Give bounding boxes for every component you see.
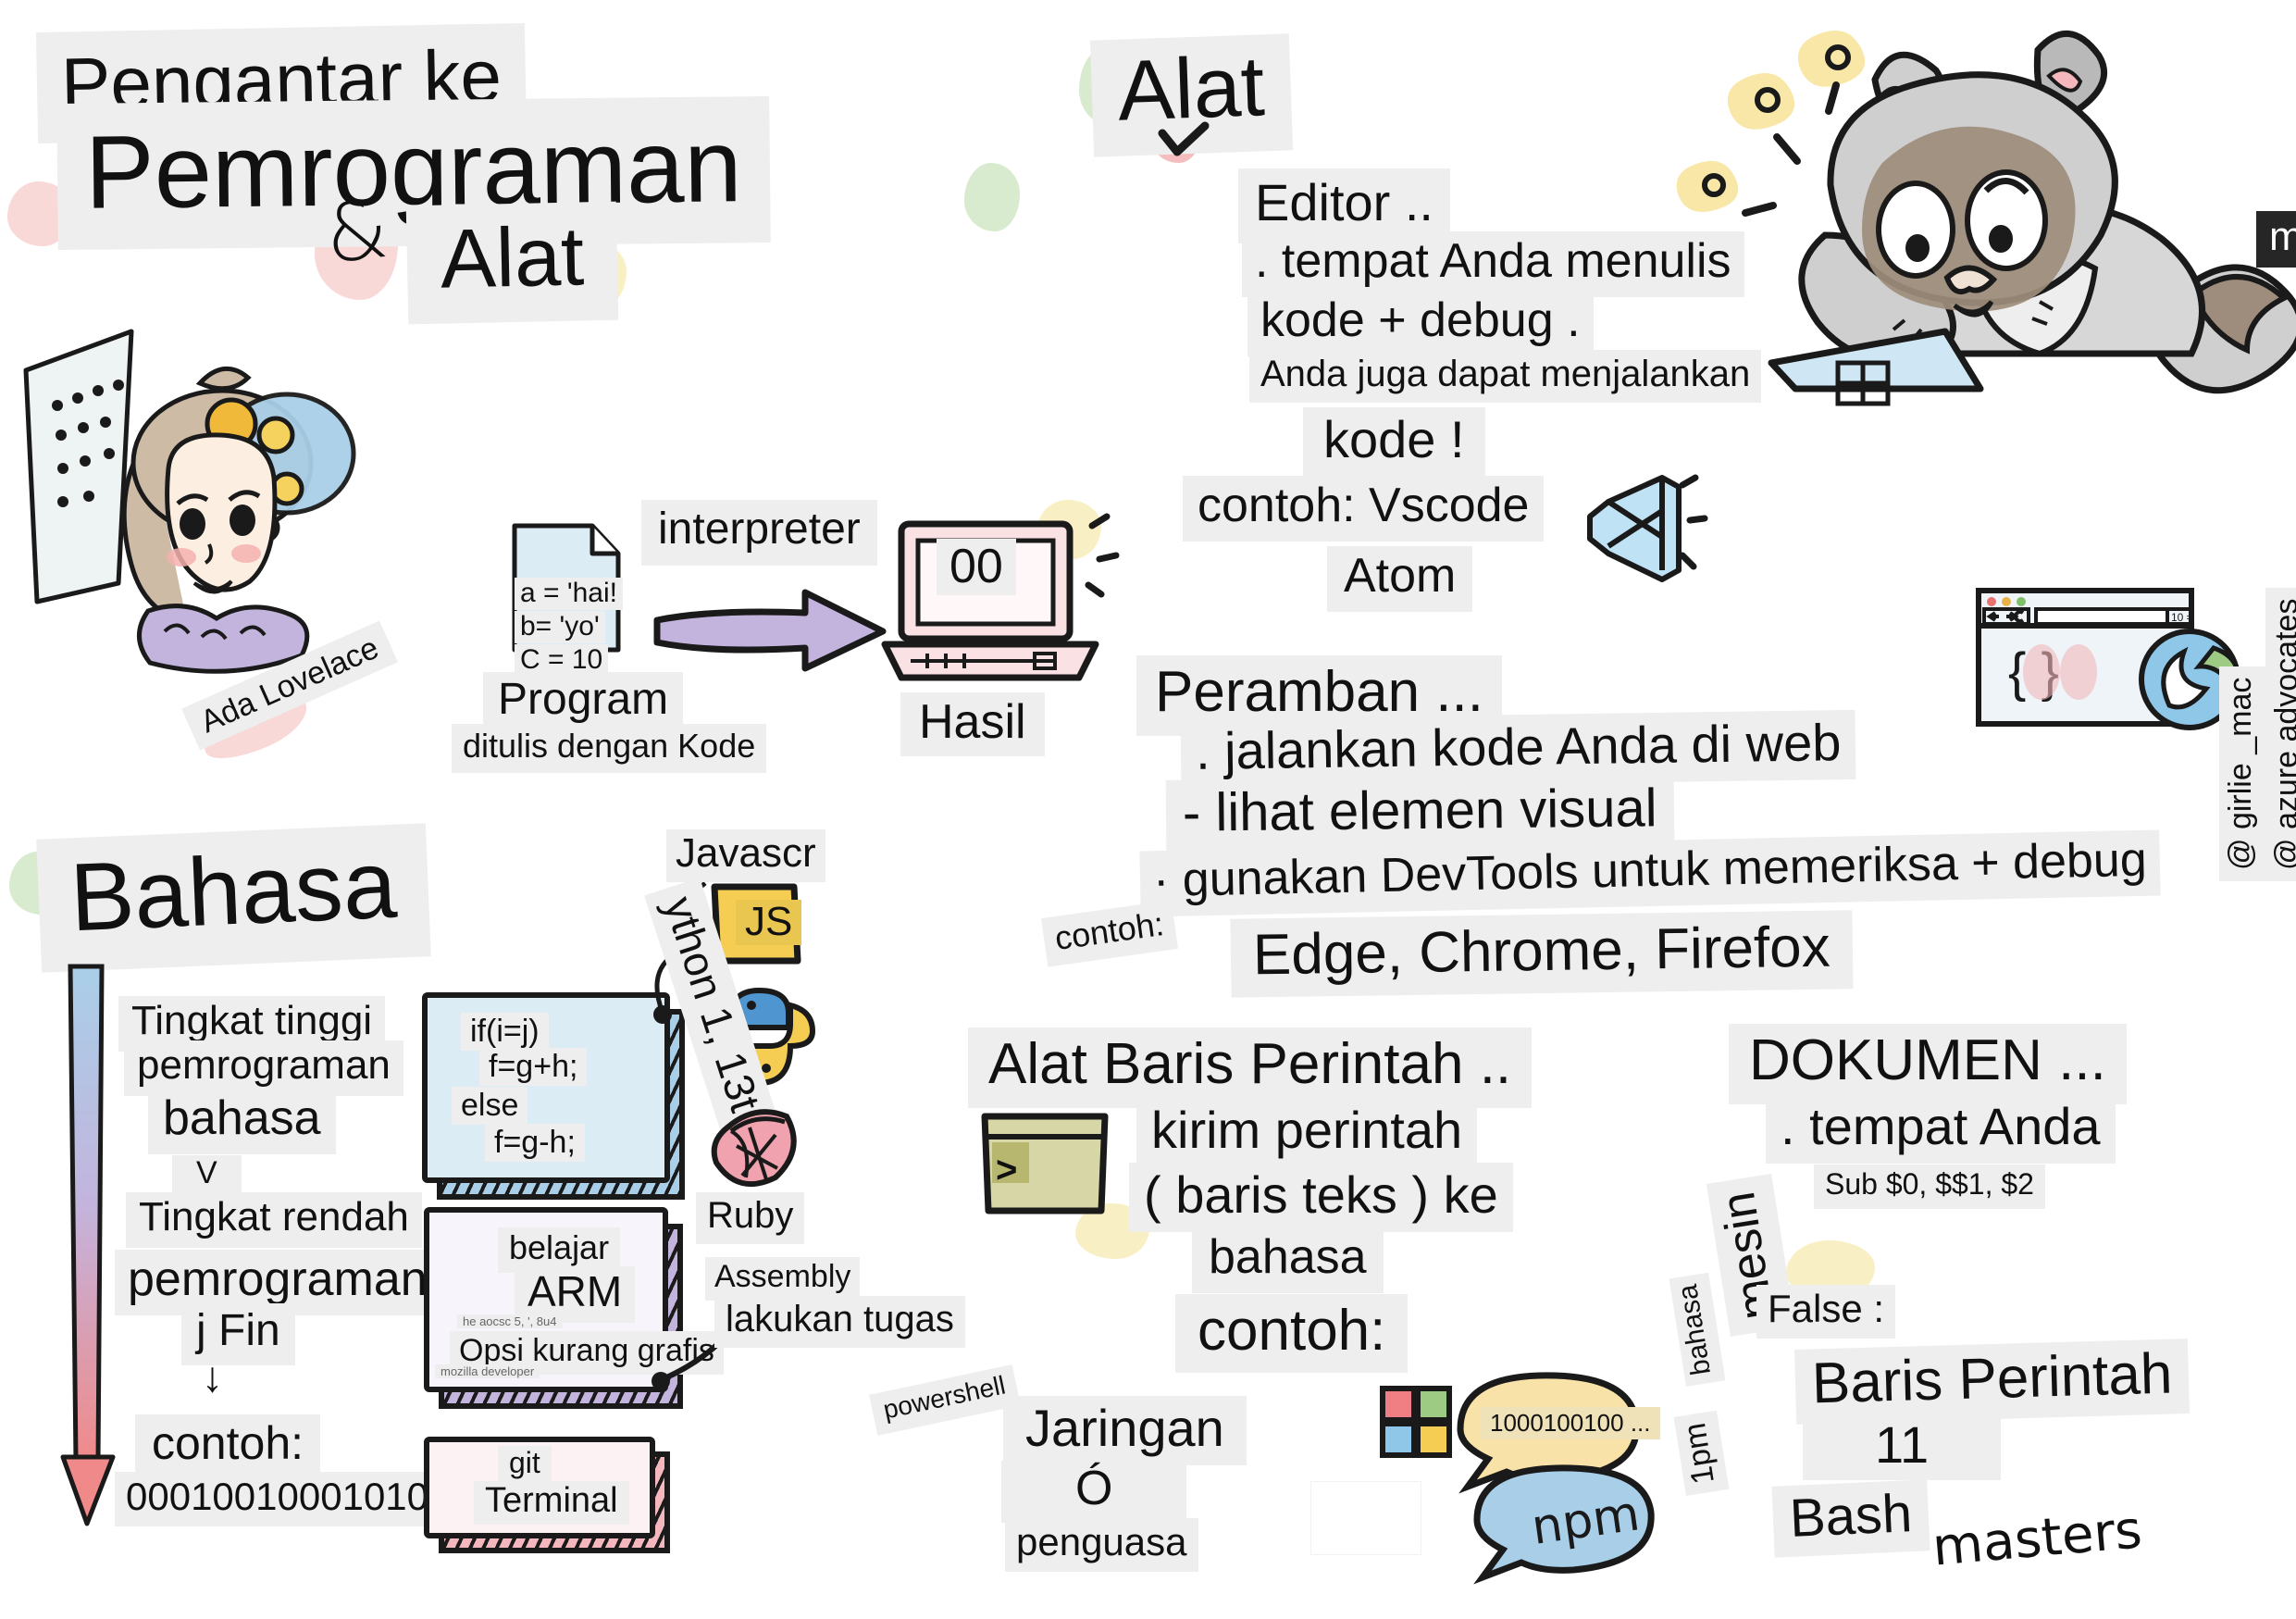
- git-box-line-2: Terminal: [474, 1481, 629, 1525]
- ruby-logo-icon: [707, 1094, 809, 1196]
- high-level-line-2: pemrograman: [124, 1040, 403, 1096]
- assembly-sublabel: lakukan tugas: [714, 1296, 965, 1348]
- sketchnote-canvas: Pengantar ke Pemrograman & Alat: [0, 0, 2296, 1619]
- interpreter-arrow: [648, 579, 898, 681]
- credit-handle-2: @ girlie _mac: [2219, 666, 2266, 881]
- npm-bubble-text: 1000100100 ...: [1481, 1407, 1660, 1439]
- browser-line-2: - lihat elemen visual: [1166, 775, 1674, 852]
- cli-contoh-label: contoh:: [1175, 1294, 1408, 1373]
- code-box-line-3: else: [452, 1087, 527, 1125]
- browser-zoom-value: 10 =: [2171, 611, 2193, 624]
- docs-line-4: Bash: [1771, 1479, 1930, 1558]
- powershell-label: powershell: [869, 1364, 1021, 1435]
- docs-line-2: Baris Perintah: [1794, 1339, 2191, 1425]
- network-label: Jaringan: [1003, 1396, 1247, 1465]
- ada-lovelace-illustration: [9, 305, 490, 676]
- program-sublabel: ditulis dengan Kode: [452, 724, 766, 773]
- title-ampersand: &: [322, 190, 392, 277]
- languages-binary: 00010010001010: [115, 1472, 440, 1526]
- javascript-label: Javascr: [666, 829, 825, 882]
- screen-value: 00: [937, 539, 1016, 595]
- arm-box-tiny-2: mozilla developer: [435, 1364, 540, 1378]
- code-line-2: b= 'yo': [515, 611, 605, 643]
- cli-line-2: ( baris teks ) ke: [1129, 1163, 1513, 1232]
- low-level-line-3: j Fin: [181, 1303, 295, 1365]
- npm-speech-bubbles: npm: [1440, 1361, 1699, 1601]
- low-level-line-1: Tingkat rendah: [126, 1192, 422, 1248]
- tiny-note-label: [1310, 1481, 1421, 1555]
- ruby-label: Ruby: [696, 1192, 804, 1244]
- docs-title: DOKUMEN ...: [1729, 1024, 2127, 1104]
- editor-line-4: kode !: [1303, 407, 1485, 477]
- docs-line-1: . tempat Anda: [1766, 1094, 2116, 1164]
- vscode-logo-icon: [1573, 468, 1694, 579]
- cli-line-3: bahasa: [1192, 1227, 1384, 1293]
- cli-prompt-glyph: >: [996, 1152, 1017, 1189]
- editor-line-2: kode + debug .: [1247, 291, 1594, 356]
- terminal-prompt-icon: [972, 1102, 1120, 1231]
- git-box-line-1: git: [498, 1446, 552, 1484]
- code-line-1: a = 'hai!: [515, 578, 623, 610]
- raccoon-illustration: [1657, 0, 2296, 389]
- docs-sub: Sub $0, $$1, $2: [1814, 1164, 2045, 1209]
- check-icon: [1157, 118, 1210, 168]
- result-label: Hasil: [900, 692, 1045, 756]
- editor-examples-2: Atom: [1327, 546, 1472, 612]
- editor-examples: contoh: Vscode: [1183, 476, 1544, 542]
- browser-examples: Edge, Chrome, Firefox: [1230, 910, 1853, 998]
- credit-handle-1: @ azure advocates: [2265, 588, 2296, 881]
- browser-window-icon: 10 = { }: [1971, 583, 2249, 750]
- code-box-line-2: f=g+h;: [479, 1048, 587, 1086]
- languages-contoh-label: contoh:: [135, 1414, 320, 1478]
- level-arrow-v: V: [172, 1155, 242, 1195]
- network-sublabel-2: penguasa: [1005, 1518, 1198, 1572]
- code-box-line-4: f=g-h;: [485, 1124, 585, 1162]
- raccoon-badge: mi: [2256, 211, 2296, 268]
- cli-title: Alat Baris Perintah ..: [968, 1027, 1532, 1108]
- network-sublabel: Ó: [1001, 1461, 1186, 1523]
- javascript-badge-text: JS: [736, 900, 801, 945]
- docs-false-label: False :: [1756, 1285, 1895, 1339]
- docs-line-3: 11: [1803, 1414, 2001, 1480]
- code-box-line-1: if(i=j): [461, 1013, 549, 1051]
- languages-heading: Bahasa: [36, 823, 430, 973]
- browser-contoh-label: contoh:: [1041, 900, 1178, 966]
- interpreter-label: interpreter: [641, 500, 877, 566]
- assembly-label: Assembly: [705, 1257, 860, 1301]
- high-level-line-3: bahasa: [148, 1089, 336, 1154]
- docs-masters-label: masters: [1930, 1503, 2144, 1575]
- arm-box-tiny-1: he aocsc 5, ', 8u4: [457, 1314, 563, 1328]
- blob-green-title2: [964, 163, 1020, 231]
- level-arrow-down: ↓: [202, 1355, 223, 1399]
- cli-line-1: kirim perintah: [1136, 1098, 1477, 1167]
